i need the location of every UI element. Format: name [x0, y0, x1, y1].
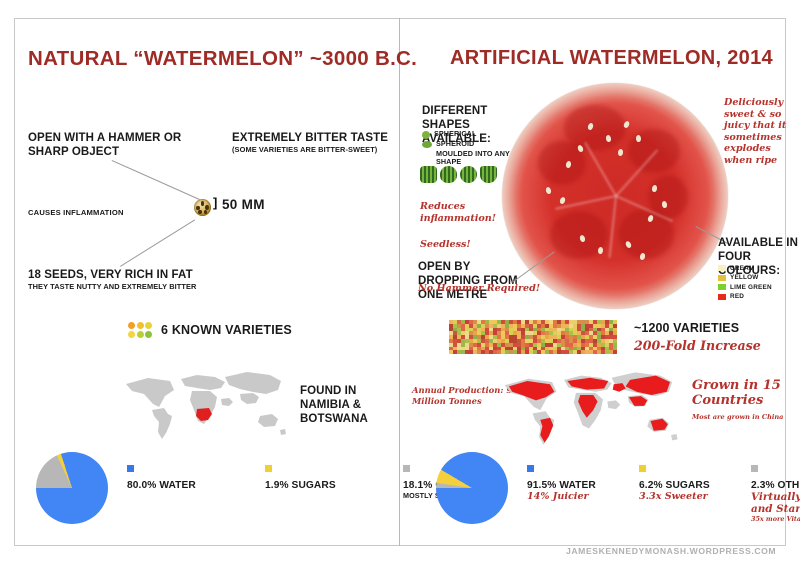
footer-credit: JAMESKENNEDYMONASH.WORDPRESS.COM — [566, 546, 776, 556]
variety-cell — [613, 350, 617, 354]
melon-shape-icon — [480, 166, 497, 183]
melon-shape-icon — [420, 166, 437, 183]
moulded-shape-icons — [420, 166, 497, 183]
colour-label: YELLOW — [730, 274, 759, 281]
shape-item: SPHEROID — [422, 140, 522, 149]
grown-in-countries-label: Grown in 15 Countries — [692, 378, 798, 408]
causes-inflammation-label: CAUSES INFLAMMATION — [28, 208, 124, 218]
colour-swatch-lime-green — [718, 284, 726, 290]
bitter-taste-heading: EXTREMELY BITTER TASTE — [232, 131, 392, 145]
size-bracket: ] — [213, 195, 217, 210]
colour-swatch-cream — [718, 265, 726, 271]
known-varieties-row: 6 KNOWN VARIETIES — [128, 322, 292, 338]
reduces-inflammation-note: Reduces inflammation! — [420, 201, 506, 224]
spheroid-icon — [422, 141, 432, 148]
bitter-taste-block: EXTREMELY BITTER TASTE (SOME VARIETIES A… — [232, 131, 392, 155]
legend-label-sugars: 6.2% SUGARS — [639, 480, 725, 491]
legend-script-other: Virtually Fat-Free and Starch-Free — [751, 491, 800, 515]
no-hammer-required-note: No Hammer Required! — [418, 283, 540, 294]
size-label-50mm: 50 MM — [222, 197, 265, 212]
varieties-count-label: ~1200 VARIETIES — [634, 321, 739, 335]
colour-label: RED — [730, 293, 744, 300]
legend-swatch-water — [527, 465, 534, 472]
shape-label: MOULDED INTO ANY SHAPE — [436, 150, 522, 167]
composition-pie-natural — [36, 452, 108, 524]
sphere-icon — [422, 131, 430, 139]
legend-label-other: 2.3% OTHER — [751, 480, 800, 491]
melon-shape-icon — [440, 166, 457, 183]
fold-increase-label: 200-Fold Increase — [634, 338, 761, 353]
shape-label: SPHERICAL — [434, 130, 476, 139]
legend-swatch-other — [751, 465, 758, 472]
legend-script-sugars: 3.3x Sweeter — [639, 491, 725, 502]
known-varieties-label: 6 KNOWN VARIETIES — [161, 323, 292, 337]
seeds-block: 18 SEEDS, VERY RICH IN FAT THEY TASTE NU… — [28, 268, 238, 292]
page-title-natural: NATURAL “WATERMELON” ~3000 B.C. — [28, 47, 417, 71]
legend-script-water: 14% Juicier — [527, 491, 613, 502]
legend-swatch-sugars — [639, 465, 646, 472]
shape-item: SPHERICAL — [422, 130, 522, 139]
wild-watermelon-slice-icon — [194, 199, 211, 216]
colour-label: CREAM — [730, 265, 754, 272]
leader-line-seeds — [120, 219, 195, 266]
colour-swatch-red — [718, 294, 726, 300]
shape-label: SPHEROID — [436, 140, 474, 149]
varieties-mosaic — [449, 320, 617, 354]
seeds-subtext: THEY TASTE NUTTY AND EXTREMELY BITTER — [28, 282, 238, 292]
natural-watermelon-panel: NATURAL “WATERMELON” ~3000 B.C. OPEN WIT… — [0, 0, 400, 565]
colour-swatch-yellow — [718, 275, 726, 281]
legend-note-vitamin-c: 35x more Vitamin C — [751, 515, 800, 523]
legend-label-sugars: 1.9% SUGARS — [265, 480, 349, 491]
bitter-taste-subtext: (SOME VARIETIES ARE BITTER-SWEET) — [232, 145, 392, 155]
variety-dots-icon — [128, 322, 152, 338]
seedless-note: Seedless! — [420, 239, 471, 250]
legend-swatch-water — [127, 465, 134, 472]
page-title-artificial: ARTIFICIAL WATERMELON, 2014 — [450, 47, 773, 70]
open-with-hammer-label: OPEN WITH A HAMMER OR SHARP OBJECT — [28, 131, 218, 159]
leader-line-hammer — [112, 160, 200, 200]
watermelon-cross-section-image — [502, 83, 728, 309]
pie-legend-artificial: 91.5% WATER 14% Juicier 6.2% SUGARS 3.3x… — [527, 462, 800, 523]
colour-item: LIME GREEN — [718, 283, 772, 291]
colour-item: RED — [718, 293, 772, 301]
melon-shape-icon — [460, 166, 477, 183]
colours-legend: CREAM YELLOW LIME GREEN RED — [718, 264, 772, 302]
grown-in-china-note: Most are grown in China — [692, 413, 800, 421]
deliciously-sweet-note: Deliciously sweet & so juicy that it som… — [724, 97, 800, 167]
found-in-label: FOUND IN NAMIBIA & BOTSWANA — [300, 384, 396, 426]
composition-pie-artificial — [436, 452, 508, 524]
legend-label-water: 80.0% WATER — [127, 480, 211, 491]
colour-item: YELLOW — [718, 274, 772, 282]
seeds-heading: 18 SEEDS, VERY RICH IN FAT — [28, 268, 238, 282]
world-map-natural — [122, 368, 288, 442]
shape-item: MOULDED INTO ANY SHAPE — [422, 150, 522, 167]
colour-item: CREAM — [718, 264, 772, 272]
legend-label-water: 91.5% WATER — [527, 480, 613, 491]
colour-label: LIME GREEN — [730, 284, 772, 291]
world-map-artificial — [500, 368, 680, 448]
shapes-list: SPHERICAL SPHEROID MOULDED INTO ANY SHAP… — [422, 130, 522, 168]
legend-swatch-sugars — [265, 465, 272, 472]
artificial-watermelon-panel: ARTIFICIAL WATERMELON, 2014 DIFFERENT SH… — [400, 0, 800, 565]
